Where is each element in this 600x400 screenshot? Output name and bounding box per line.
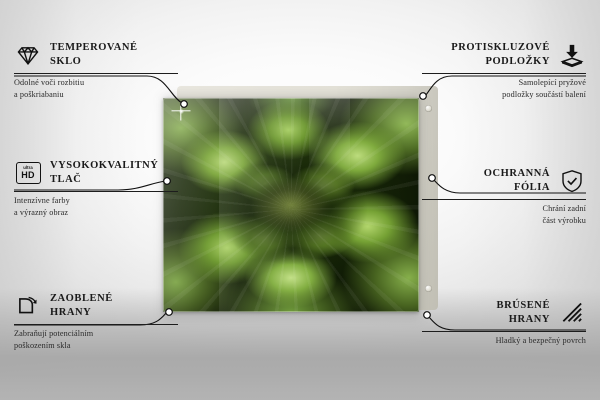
connector-dot-tempered-glass: [181, 101, 188, 108]
feature-title: OCHRANNÁ FÓLIA: [484, 167, 550, 195]
feature-desc-line2: a poškriabaniu: [14, 89, 178, 101]
feature-title: PROTISKLUZOVÉ PODLOŽKY: [451, 41, 550, 69]
feature-rounded-edges: ZAOBLENÉ HRANY Zabraňují potenciálním po…: [14, 291, 178, 352]
feature-anti-slip-pads: PROTISKLUZOVÉ PODLOŽKY Samolepící pryžov…: [422, 40, 586, 101]
feature-title-line1: PROTISKLUZOVÉ: [451, 41, 550, 55]
feature-desc-line2: podložky součástí balení: [422, 89, 586, 101]
infographic-canvas: TEMPEROVANÉ SKLO Odolné voči rozbitiu a …: [0, 0, 600, 400]
feature-title-line1: OCHRANNÁ: [484, 167, 550, 181]
feature-header: ultra HD VYSOKOKVALITNÝ TLAČ: [14, 158, 178, 188]
feature-title-line1: BRÚSENÉ: [497, 299, 550, 313]
hd-badge-hd-text: HD: [21, 171, 34, 180]
feature-desc-line1: Odolné voči rozbitiu: [14, 77, 178, 89]
feature-title-line1: VYSOKOKVALITNÝ: [50, 159, 158, 173]
feature-title: TEMPEROVANÉ SKLO: [50, 41, 138, 69]
feature-header: TEMPEROVANÉ SKLO: [14, 40, 178, 70]
feature-divider: [14, 324, 178, 325]
feature-title-line2: SKLO: [50, 55, 138, 69]
feature-desc-line2: část výrobku: [422, 215, 586, 227]
feature-title: VYSOKOKVALITNÝ TLAČ: [50, 159, 158, 187]
feature-title-line2: TLAČ: [50, 173, 158, 187]
hatch-triangle-icon: [558, 299, 586, 327]
feature-desc-line1: Intenzívne farby: [14, 195, 178, 207]
feature-desc-line1: Hladký a bezpečný povrch: [422, 335, 586, 347]
feature-protective-foil: OCHRANNÁ FÓLIA Chrání zadní část výrobku: [422, 166, 586, 227]
feature-title-line2: FÓLIA: [484, 181, 550, 195]
feature-divider: [14, 73, 178, 74]
feature-divider: [422, 199, 586, 200]
feature-brushed-edges: BRÚSENÉ HRANY Hladký a bezpečný povrch: [422, 298, 586, 347]
feature-header: OCHRANNÁ FÓLIA: [422, 166, 586, 196]
feature-title-line2: PODLOŽKY: [451, 55, 550, 69]
feature-header: ZAOBLENÉ HRANY: [14, 291, 178, 321]
feature-title: BRÚSENÉ HRANY: [497, 299, 550, 327]
feature-divider: [422, 331, 586, 332]
feature-divider: [14, 191, 178, 192]
feature-title-line2: HRANY: [50, 306, 113, 320]
feature-desc-line1: Zabraňují potenciálním: [14, 328, 178, 340]
feature-tempered-glass: TEMPEROVANÉ SKLO Odolné voči rozbitiu a …: [14, 40, 178, 101]
press-pad-icon: [558, 41, 586, 69]
feature-divider: [422, 73, 586, 74]
feature-high-quality-print: ultra HD VYSOKOKVALITNÝ TLAČ Intenzívne …: [14, 158, 178, 219]
diamond-icon: [14, 41, 42, 69]
feature-desc-line1: Chrání zadní: [422, 203, 586, 215]
hd-badge-box: ultra HD: [16, 162, 41, 184]
ultra-hd-badge-icon: ultra HD: [14, 159, 42, 187]
feature-title-line2: HRANY: [497, 313, 550, 327]
feature-desc-line2: a výrazný obraz: [14, 207, 178, 219]
feature-desc-line1: Samolepící pryžové: [422, 77, 586, 89]
feature-title-line1: ZAOBLENÉ: [50, 292, 113, 306]
rounded-corner-icon: [14, 292, 42, 320]
feature-desc-line2: poškozením skla: [14, 340, 178, 352]
feature-header: PROTISKLUZOVÉ PODLOŽKY: [422, 40, 586, 70]
feature-title: ZAOBLENÉ HRANY: [50, 292, 113, 320]
shield-check-icon: [558, 167, 586, 195]
feature-header: BRÚSENÉ HRANY: [422, 298, 586, 328]
feature-title-line1: TEMPEROVANÉ: [50, 41, 138, 55]
